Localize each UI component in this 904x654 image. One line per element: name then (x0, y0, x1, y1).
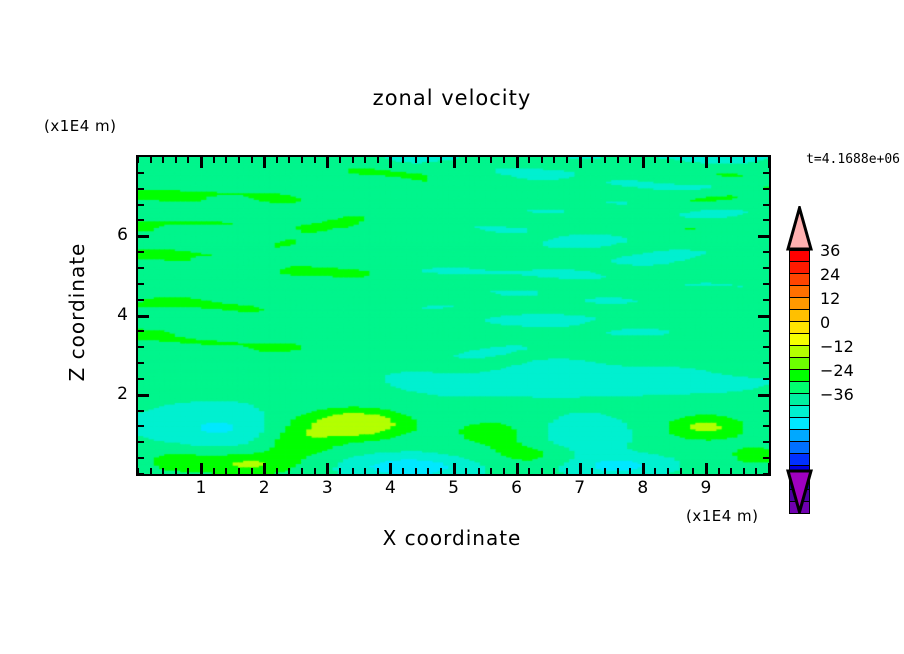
y-tick-label: 4 (88, 305, 128, 325)
x-tick (629, 468, 631, 474)
y-tick (763, 425, 769, 427)
colorbar-band (789, 262, 810, 274)
x-tick (654, 157, 656, 163)
y-tick (138, 330, 144, 332)
x-tick (415, 157, 417, 163)
x-tick (743, 157, 745, 163)
colorbar-label: −24 (820, 361, 854, 380)
colorbar-band (789, 346, 810, 358)
x-tick (718, 468, 720, 474)
colorbar-band (789, 322, 810, 334)
x-tick (465, 157, 467, 163)
y-tick (763, 330, 769, 332)
x-tick (314, 468, 316, 474)
y-tick (758, 315, 769, 318)
y-tick (758, 235, 769, 238)
x-tick (276, 468, 278, 474)
x-tick (718, 157, 720, 163)
x-tick-label: 3 (307, 478, 347, 498)
x-tick (326, 157, 329, 168)
x-tick (440, 157, 442, 163)
x-tick (427, 468, 429, 474)
x-tick (389, 463, 392, 474)
x-tick (301, 157, 303, 163)
colorbar-label: −36 (820, 385, 854, 404)
x-tick (200, 463, 203, 474)
x-tick (453, 463, 456, 474)
y-tick (138, 188, 144, 190)
y-tick (138, 346, 144, 348)
x-tick (743, 468, 745, 474)
x-tick (251, 468, 253, 474)
x-tick (566, 468, 568, 474)
colorbar-over-arrow-icon (784, 206, 815, 251)
x-tick (478, 157, 480, 163)
colorbar-band (789, 442, 810, 454)
x-tick (276, 157, 278, 163)
x-tick (213, 468, 215, 474)
contour-plot-area (136, 155, 771, 476)
x-tick (755, 468, 757, 474)
x-tick (364, 468, 366, 474)
x-axis-units-label: (x1E4 m) (686, 507, 759, 525)
x-tick (314, 157, 316, 163)
y-tick (138, 299, 144, 301)
x-tick (150, 468, 152, 474)
colorbar-label: −12 (820, 337, 854, 356)
colorbar: 3624120−12−24−36 (784, 206, 814, 514)
x-tick (238, 468, 240, 474)
y-tick (138, 425, 144, 427)
x-tick (200, 157, 203, 168)
y-tick (763, 378, 769, 380)
x-tick (478, 468, 480, 474)
y-tick (138, 394, 149, 397)
x-tick (730, 468, 732, 474)
x-tick (490, 157, 492, 163)
colorbar-band (789, 454, 810, 466)
x-tick (263, 463, 266, 474)
colorbar-band (789, 298, 810, 310)
x-tick-label: 6 (497, 478, 537, 498)
x-tick (680, 157, 682, 163)
x-tick (251, 157, 253, 163)
x-tick (364, 157, 366, 163)
page-title: zonal velocity (0, 86, 904, 110)
x-axis-title: X coordinate (136, 526, 768, 550)
x-tick (667, 468, 669, 474)
colorbar-band (789, 370, 810, 382)
y-axis-tick-labels: 246 (68, 155, 128, 472)
x-tick (642, 157, 645, 168)
colorbar-band (789, 406, 810, 418)
x-tick (175, 468, 177, 474)
y-tick (138, 267, 144, 269)
x-tick (579, 463, 582, 474)
x-tick (629, 157, 631, 163)
x-tick (591, 157, 593, 163)
y-tick (138, 441, 144, 443)
y-tick (138, 315, 149, 318)
y-tick (763, 299, 769, 301)
colorbar-band (789, 274, 810, 286)
x-tick (465, 468, 467, 474)
x-tick-label: 9 (686, 478, 726, 498)
y-tick (763, 188, 769, 190)
y-tick (138, 410, 144, 412)
colorbar-band (789, 394, 810, 406)
y-tick (763, 441, 769, 443)
x-tick-label: 7 (560, 478, 600, 498)
x-tick (187, 157, 189, 163)
colorbar-label: 0 (820, 313, 830, 332)
x-tick (453, 157, 456, 168)
x-tick-label: 5 (434, 478, 474, 498)
x-tick-label: 4 (370, 478, 410, 498)
x-tick (768, 157, 771, 168)
y-tick (138, 457, 144, 459)
x-tick (503, 468, 505, 474)
y-tick (763, 219, 769, 221)
x-tick (541, 468, 543, 474)
colorbar-label: 24 (820, 265, 840, 284)
x-tick (238, 157, 240, 163)
x-tick (566, 157, 568, 163)
x-tick (755, 157, 757, 163)
x-tick (680, 468, 682, 474)
colorbar-band (789, 334, 810, 346)
x-tick (705, 157, 708, 168)
y-tick (138, 362, 144, 364)
x-tick (213, 157, 215, 163)
x-tick (617, 157, 619, 163)
x-tick (490, 468, 492, 474)
x-tick (150, 157, 152, 163)
x-tick (654, 468, 656, 474)
x-tick-label: 2 (244, 478, 284, 498)
colorbar-band (789, 382, 810, 394)
x-tick (516, 157, 519, 168)
y-tick (763, 457, 769, 459)
colorbar-band (789, 286, 810, 298)
y-tick (763, 473, 769, 475)
x-tick (516, 463, 519, 474)
x-tick (591, 468, 593, 474)
x-tick (541, 157, 543, 163)
y-tick (138, 204, 144, 206)
colorbar-band (789, 358, 810, 370)
y-tick (138, 283, 144, 285)
x-tick (352, 468, 354, 474)
x-tick (301, 468, 303, 474)
y-tick (138, 235, 149, 238)
colorbar-band (789, 430, 810, 442)
x-tick (440, 468, 442, 474)
colorbar-band (789, 310, 810, 322)
x-tick (162, 157, 164, 163)
y-tick (763, 172, 769, 174)
x-tick (339, 468, 341, 474)
colorbar-under-arrow-icon (784, 468, 815, 514)
x-tick-label: 8 (623, 478, 663, 498)
y-tick (763, 283, 769, 285)
x-tick (730, 157, 732, 163)
x-tick (692, 157, 694, 163)
x-tick (288, 468, 290, 474)
x-tick (667, 157, 669, 163)
x-tick (187, 468, 189, 474)
x-tick (162, 468, 164, 474)
x-tick (528, 468, 530, 474)
y-tick (763, 204, 769, 206)
y-tick (763, 267, 769, 269)
time-annotation: t=4.1688e+06 (806, 152, 900, 167)
y-tick (138, 251, 144, 253)
x-tick (326, 463, 329, 474)
x-tick (553, 468, 555, 474)
y-tick (758, 394, 769, 397)
x-tick (427, 157, 429, 163)
x-tick (617, 468, 619, 474)
x-tick (705, 463, 708, 474)
x-tick (377, 157, 379, 163)
y-tick (763, 251, 769, 253)
y-tick (763, 346, 769, 348)
y-tick (138, 378, 144, 380)
x-tick (604, 468, 606, 474)
y-tick-label: 6 (88, 225, 128, 245)
y-tick (138, 473, 144, 475)
x-tick (389, 157, 392, 168)
x-tick (528, 157, 530, 163)
x-tick (137, 157, 139, 163)
x-tick-label: 1 (181, 478, 221, 498)
x-tick (402, 468, 404, 474)
x-tick (553, 157, 555, 163)
colorbar-band (789, 250, 810, 262)
x-tick (377, 468, 379, 474)
x-tick (579, 157, 582, 168)
x-tick (503, 157, 505, 163)
x-tick (225, 157, 227, 163)
x-tick (225, 468, 227, 474)
y-tick (138, 219, 144, 221)
x-tick (352, 157, 354, 163)
x-tick (263, 157, 266, 168)
x-tick (288, 157, 290, 163)
y-tick (763, 362, 769, 364)
contour-field (138, 157, 769, 474)
x-tick (402, 157, 404, 163)
y-tick (138, 172, 144, 174)
y-tick-label: 2 (88, 384, 128, 404)
x-tick (642, 463, 645, 474)
x-tick (692, 468, 694, 474)
y-axis-units-label: (x1E4 m) (44, 117, 117, 135)
x-tick (339, 157, 341, 163)
x-tick (415, 468, 417, 474)
colorbar-label: 12 (820, 289, 840, 308)
x-tick (175, 157, 177, 163)
y-tick (763, 410, 769, 412)
colorbar-band (789, 418, 810, 430)
x-tick (604, 157, 606, 163)
colorbar-label: 36 (820, 241, 840, 260)
